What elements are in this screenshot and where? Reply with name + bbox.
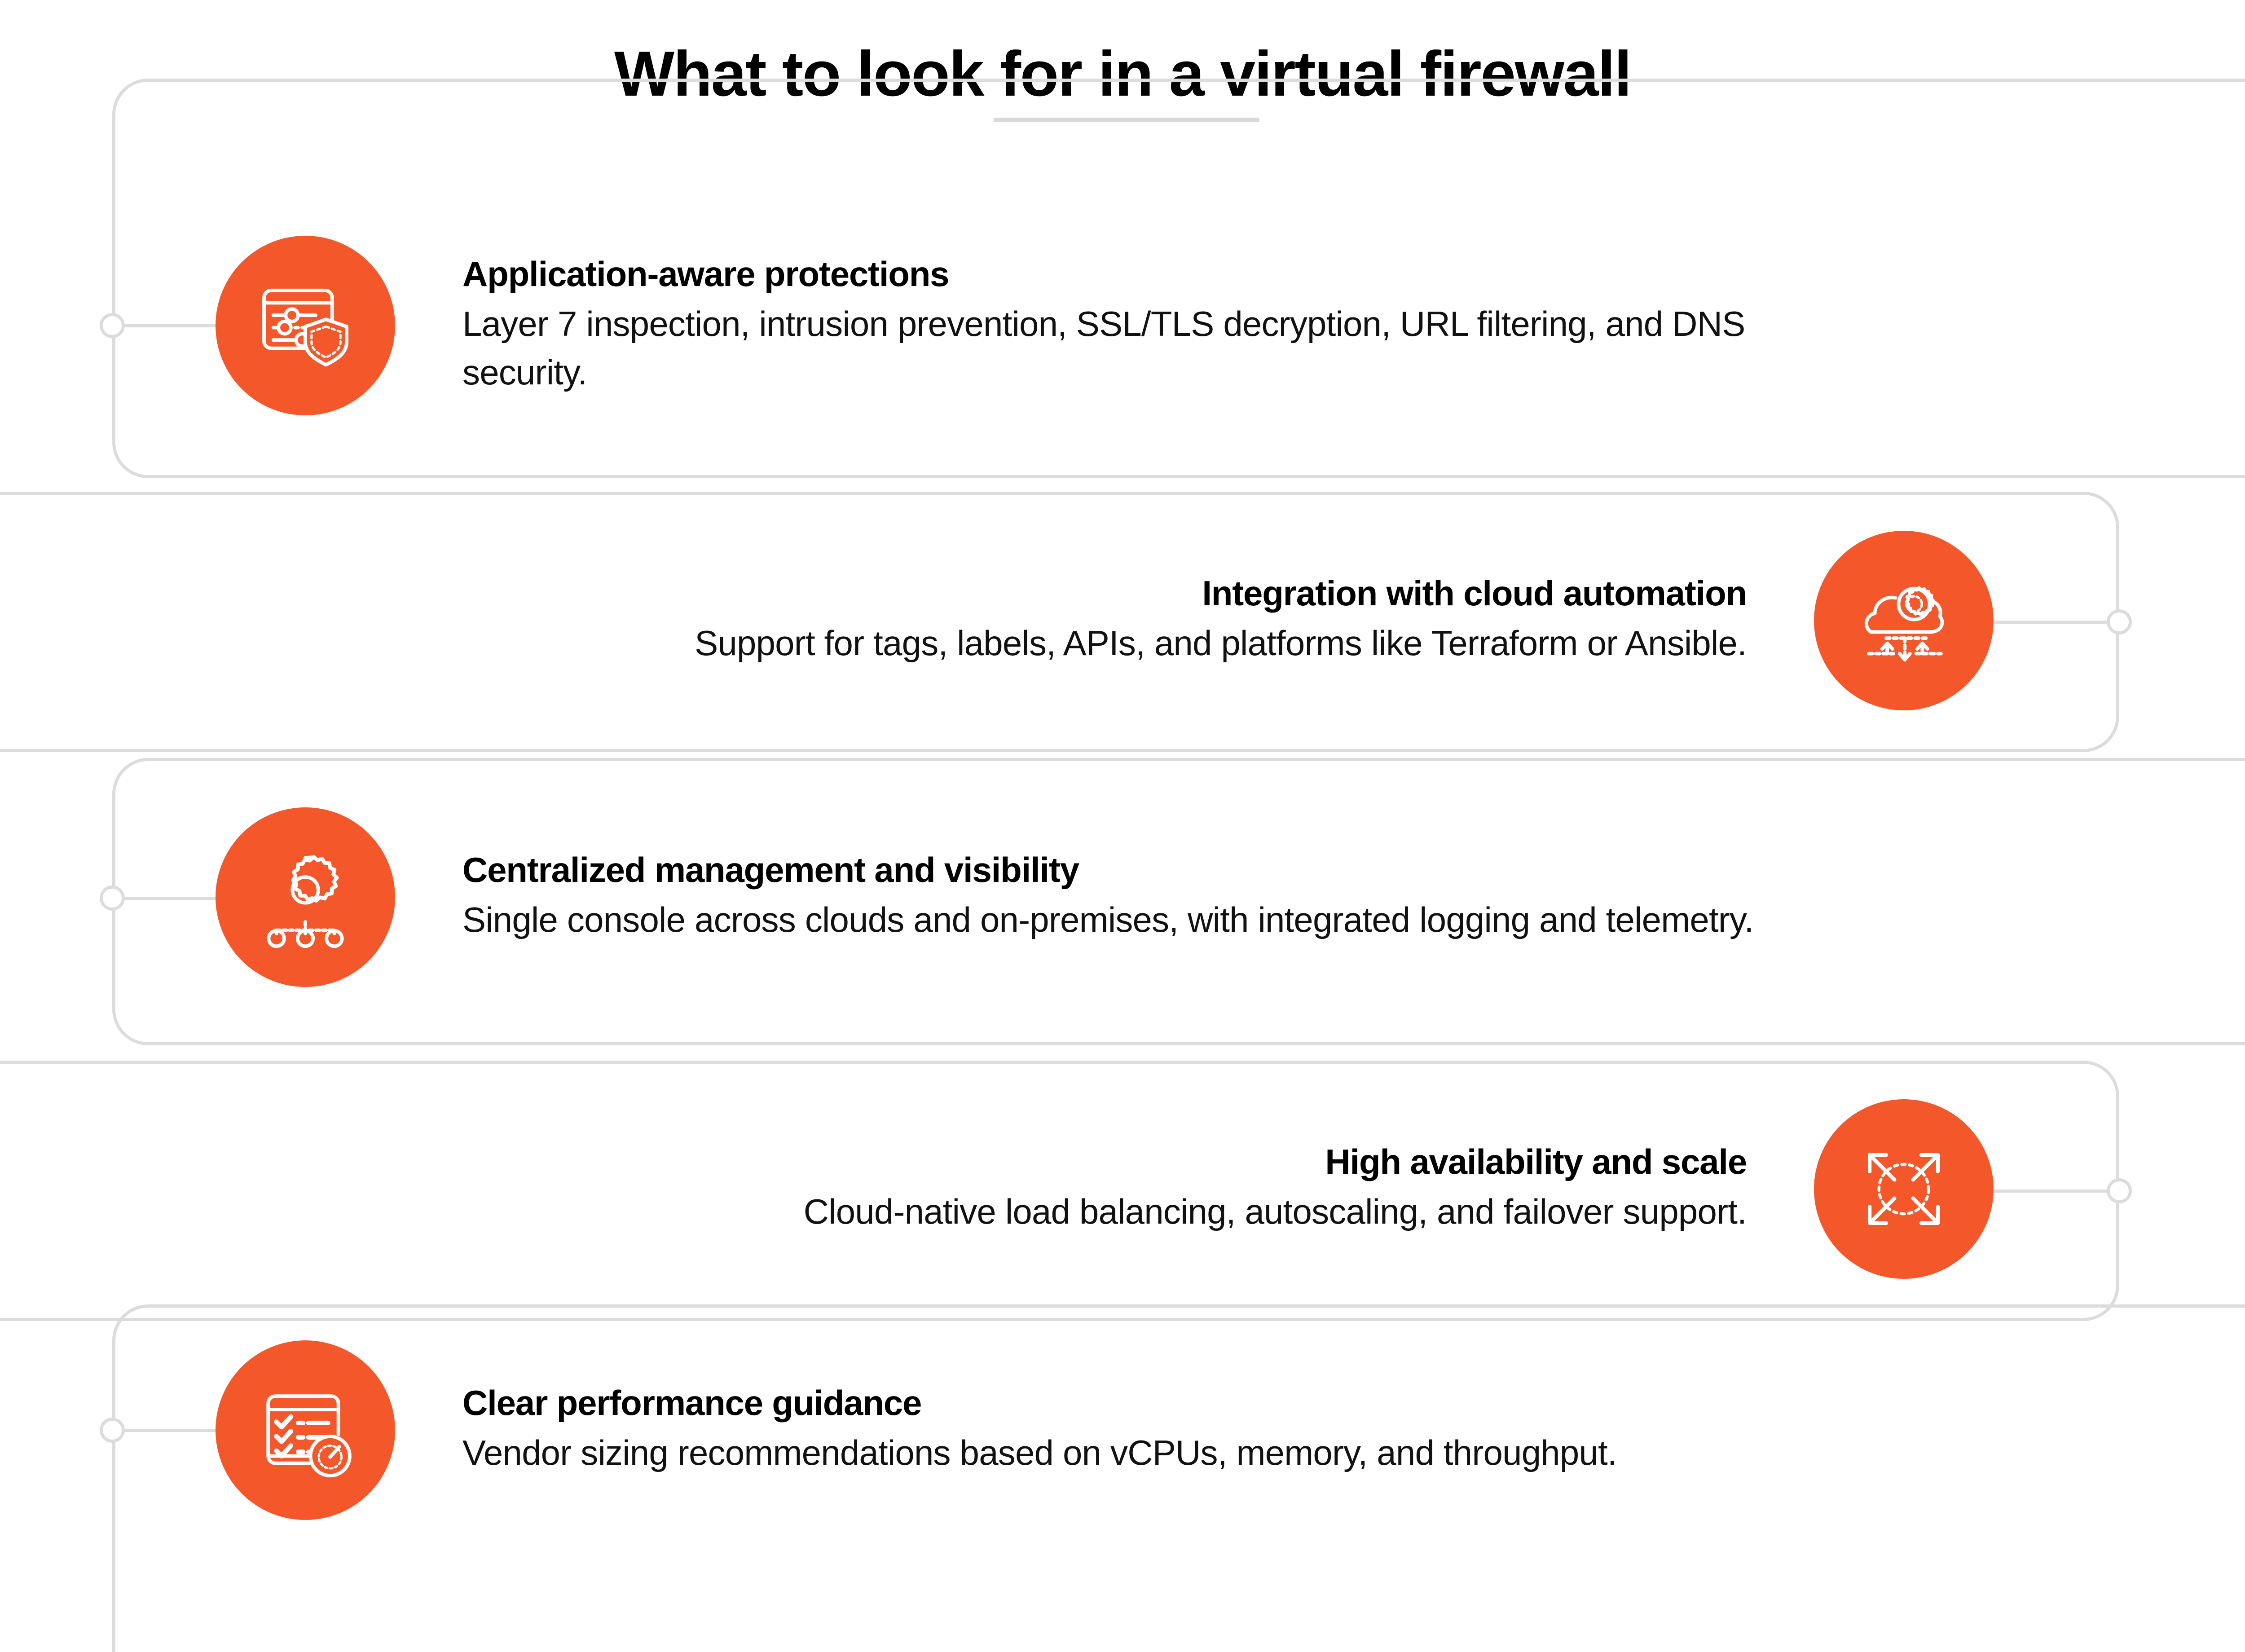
cloud-gear-arrows-icon <box>1814 531 1994 710</box>
connector-node-4 <box>2107 1178 2132 1203</box>
feature-row-1: Application-aware protections Layer 7 in… <box>216 236 1877 415</box>
title-divider <box>994 118 1259 122</box>
gear-nodes-icon <box>216 807 395 987</box>
feature-body-1: Layer 7 inspection, intrusion prevention… <box>462 300 1877 396</box>
connector-node-5 <box>100 1418 125 1443</box>
infographic-canvas: What to look for in a virtual firewall A… <box>0 0 2245 1652</box>
feature-body-4: Cloud-native load balancing, autoscaling… <box>539 1188 1747 1236</box>
feature-body-2: Support for tags, labels, APIs, and plat… <box>539 619 1747 668</box>
feature-text-5: Clear performance guidance Vendor sizing… <box>395 1383 1877 1477</box>
connector-node-3 <box>100 885 125 911</box>
connector-node-1 <box>100 313 125 338</box>
page-title: What to look for in a virtual firewall <box>0 40 2245 107</box>
settings-sliders-shield-icon <box>216 236 395 415</box>
feature-heading-3: Centralized management and visibility <box>462 850 1877 890</box>
header-block: What to look for in a virtual firewall <box>0 40 2245 107</box>
feature-row-4: High availability and scale Cloud-native… <box>539 1099 1994 1279</box>
feature-text-4: High availability and scale Cloud-native… <box>539 1142 1814 1236</box>
feature-body-3: Single console across clouds and on-prem… <box>462 896 1877 944</box>
connector-node-2 <box>2107 609 2132 634</box>
feature-text-2: Integration with cloud automation Suppor… <box>539 574 1814 668</box>
feature-body-5: Vendor sizing recommendations based on v… <box>462 1429 1877 1477</box>
feature-row-5: Clear performance guidance Vendor sizing… <box>216 1340 1877 1520</box>
checklist-gauge-icon <box>216 1340 395 1520</box>
feature-heading-1: Application-aware protections <box>462 255 1877 294</box>
feature-text-1: Application-aware protections Layer 7 in… <box>395 255 1877 397</box>
feature-row-3: Centralized management and visibility Si… <box>216 807 1877 987</box>
feature-heading-4: High availability and scale <box>539 1142 1747 1181</box>
feature-heading-5: Clear performance guidance <box>462 1383 1877 1423</box>
feature-row-2: Integration with cloud automation Suppor… <box>539 531 1994 710</box>
feature-text-3: Centralized management and visibility Si… <box>395 850 1877 944</box>
expand-arrows-icon <box>1814 1099 1994 1279</box>
feature-heading-2: Integration with cloud automation <box>539 574 1747 613</box>
